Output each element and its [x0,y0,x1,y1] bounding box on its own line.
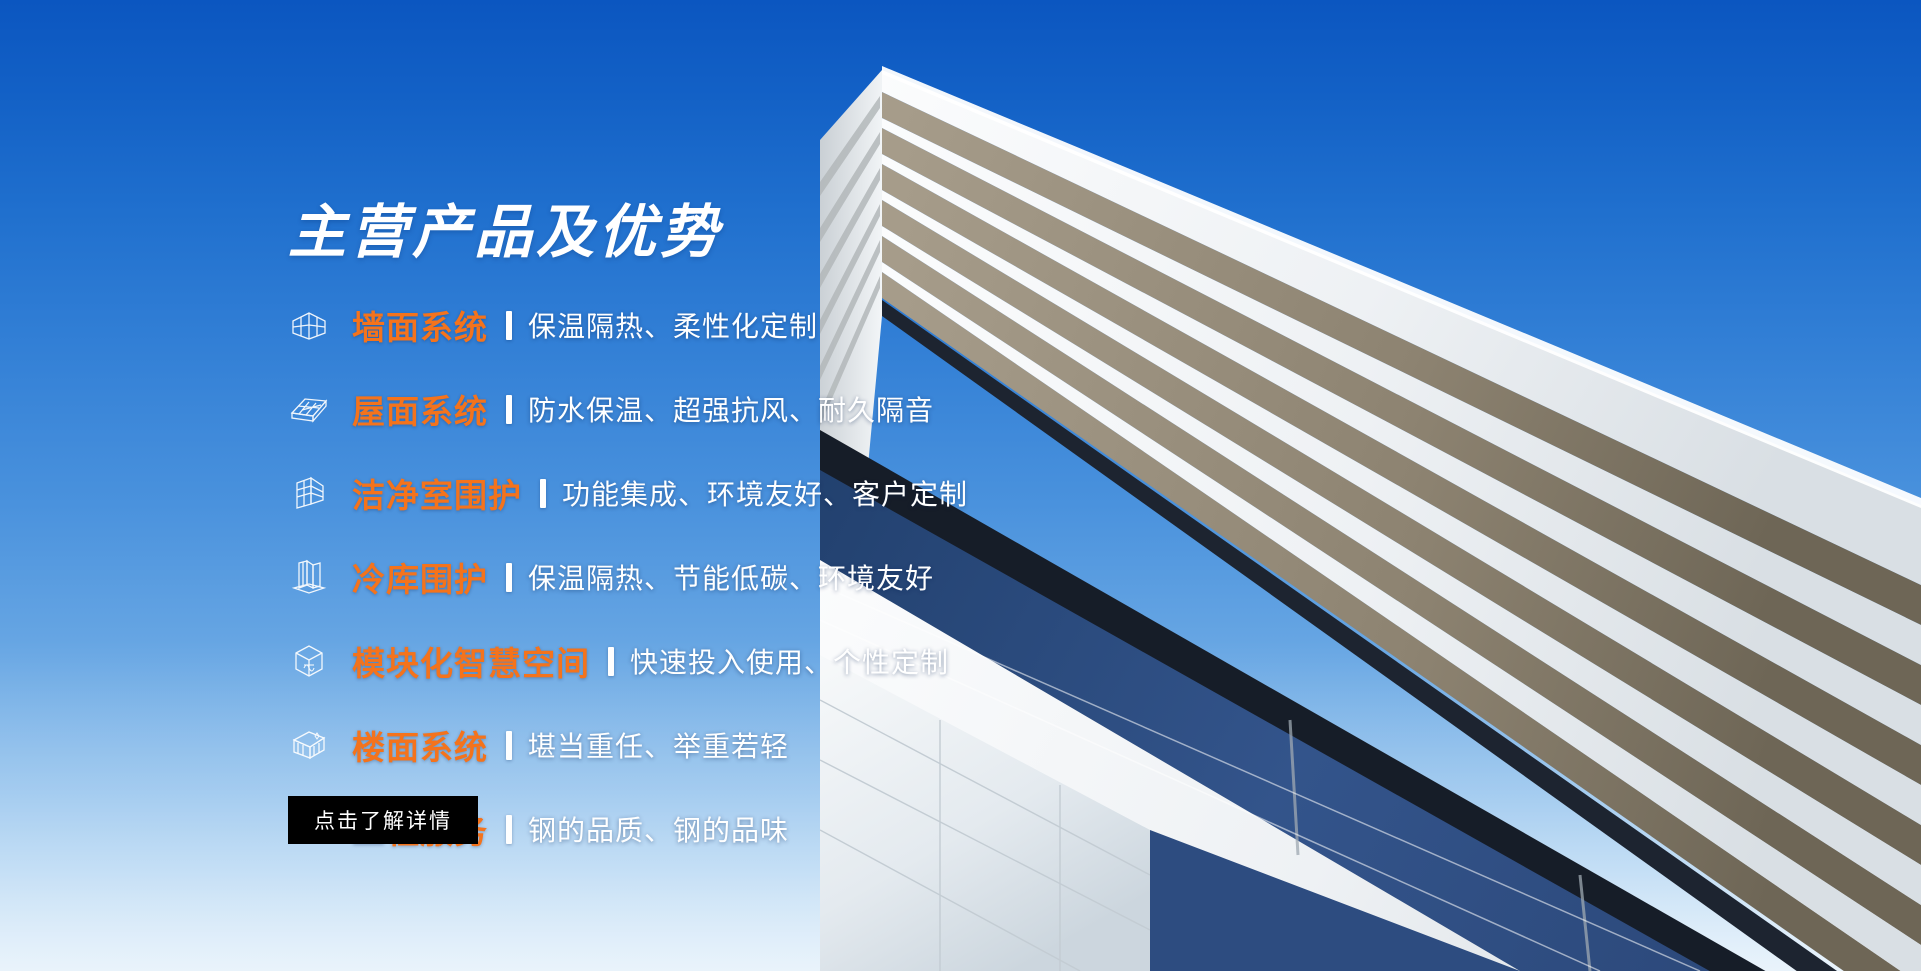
separator-bar [608,647,614,676]
cleanroom-icon [288,472,330,514]
list-item[interactable]: 模块化智慧空间 快速投入使用、个性定制 [288,634,1088,688]
product-name: 冷库围护 [352,553,488,601]
product-desc: 快速投入使用、个性定制 [630,641,949,681]
product-name: 屋面系统 [352,385,488,433]
separator-bar [540,479,546,508]
product-name: 模块化智慧空间 [352,637,590,685]
product-desc: 钢的品质、钢的品味 [528,809,789,849]
list-item[interactable]: 冷库围护 保温隔热、节能低碳、环境友好 [288,550,1088,604]
hero-banner: 主营产品及优势 墙面系统 保温隔热、柔性化定制 [0,0,1921,971]
separator-bar [506,731,512,760]
modular-cube-icon [288,640,330,682]
wall-panel-icon [288,304,330,346]
list-item[interactable]: 楼面系统 堪当重任、举重若轻 [288,718,1088,772]
floor-deck-icon [288,724,330,766]
roof-panel-icon [288,388,330,430]
learn-more-button[interactable]: 点击了解详情 [288,796,478,844]
separator-bar [506,395,512,424]
separator-bar [506,311,512,340]
product-desc: 保温隔热、节能低碳、环境友好 [528,557,934,597]
product-desc: 功能集成、环境友好、客户定制 [562,473,968,513]
separator-bar [506,563,512,592]
product-desc: 防水保温、超强抗风、耐久隔音 [528,389,934,429]
product-desc: 堪当重任、举重若轻 [528,725,789,765]
separator-bar [506,815,512,844]
list-item[interactable]: 洁净室围护 功能集成、环境友好、客户定制 [288,466,1088,520]
product-name: 墙面系统 [352,301,488,349]
hero-content: 主营产品及优势 墙面系统 保温隔热、柔性化定制 [0,0,1100,971]
list-item[interactable]: 墙面系统 保温隔热、柔性化定制 [288,298,1088,352]
list-item[interactable]: 屋面系统 防水保温、超强抗风、耐久隔音 [288,382,1088,436]
product-desc: 保温隔热、柔性化定制 [528,305,818,345]
page-title: 主营产品及优势 [288,203,722,261]
cold-storage-icon [288,556,330,598]
product-name: 洁净室围护 [352,469,522,517]
product-name: 楼面系统 [352,721,488,769]
